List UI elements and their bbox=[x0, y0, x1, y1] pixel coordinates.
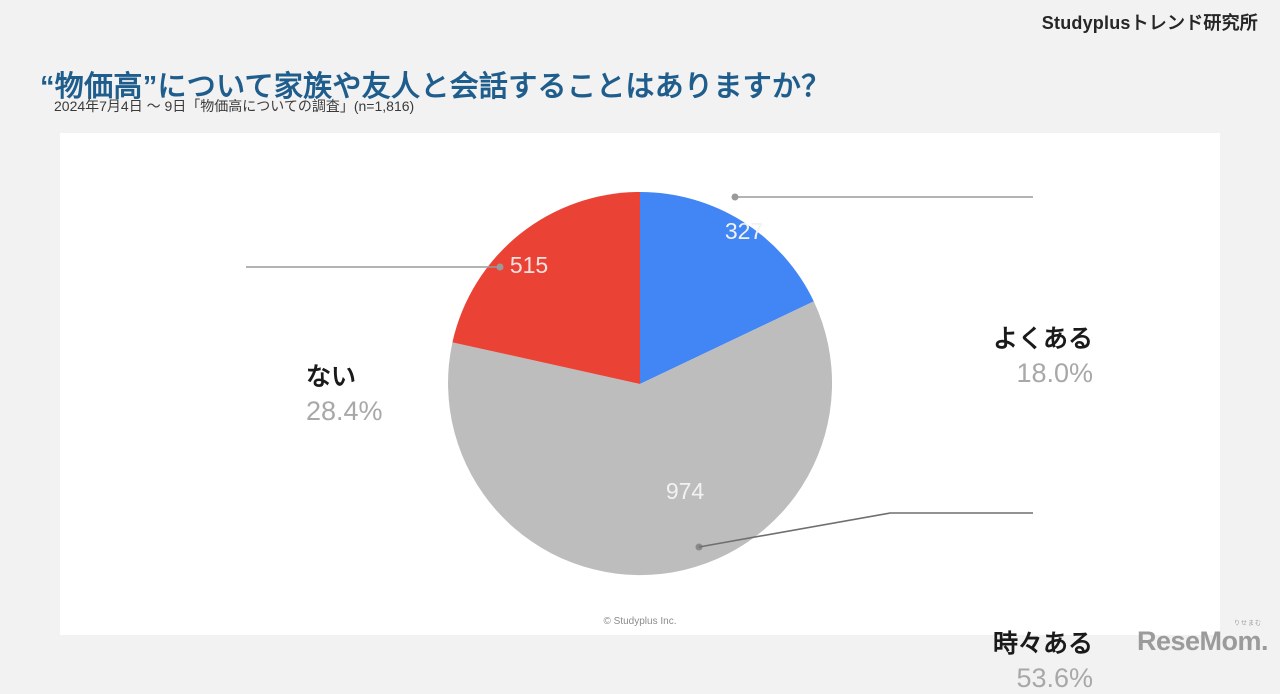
pie-value-yokuaru: 327 bbox=[725, 218, 763, 244]
callout-yokuaru: よくある 18.0% bbox=[993, 325, 1093, 389]
callout-percent-tokidokiaru: 53.6% bbox=[993, 663, 1093, 694]
callout-label-nai: ない bbox=[306, 363, 383, 393]
callout-label-yokuaru: よくある bbox=[993, 325, 1093, 355]
watermark-text: ReseMom. bbox=[1137, 628, 1268, 655]
resemom-watermark: りせまむ ReseMom. bbox=[1137, 621, 1268, 655]
leader-line-yokuaru bbox=[732, 194, 1034, 201]
pie-slices bbox=[448, 192, 832, 575]
pie-value-tokidokiaru: 974 bbox=[666, 478, 705, 504]
callout-label-tokidokiaru: 時々ある bbox=[993, 630, 1093, 660]
page-subtitle: 2024年7月4日 〜 9日「物価高についての調査」(n=1,816) bbox=[54, 96, 414, 116]
copyright-text: © Studyplus Inc. bbox=[60, 616, 1220, 627]
leader-line-nai bbox=[246, 264, 504, 271]
chart-card: 327 974 515 よくある 18.0% bbox=[60, 133, 1220, 635]
callout-percent-yokuaru: 18.0% bbox=[993, 358, 1093, 390]
pie-value-nai: 515 bbox=[510, 252, 548, 278]
callout-tokidokiaru: 時々ある 53.6% bbox=[993, 630, 1093, 694]
pie-chart: 327 974 515 よくある 18.0% bbox=[60, 133, 1220, 635]
callout-percent-nai: 28.4% bbox=[306, 396, 383, 428]
brand-label: Studyplusトレンド研究所 bbox=[1042, 9, 1258, 35]
callout-nai: ない 28.4% bbox=[306, 363, 383, 427]
